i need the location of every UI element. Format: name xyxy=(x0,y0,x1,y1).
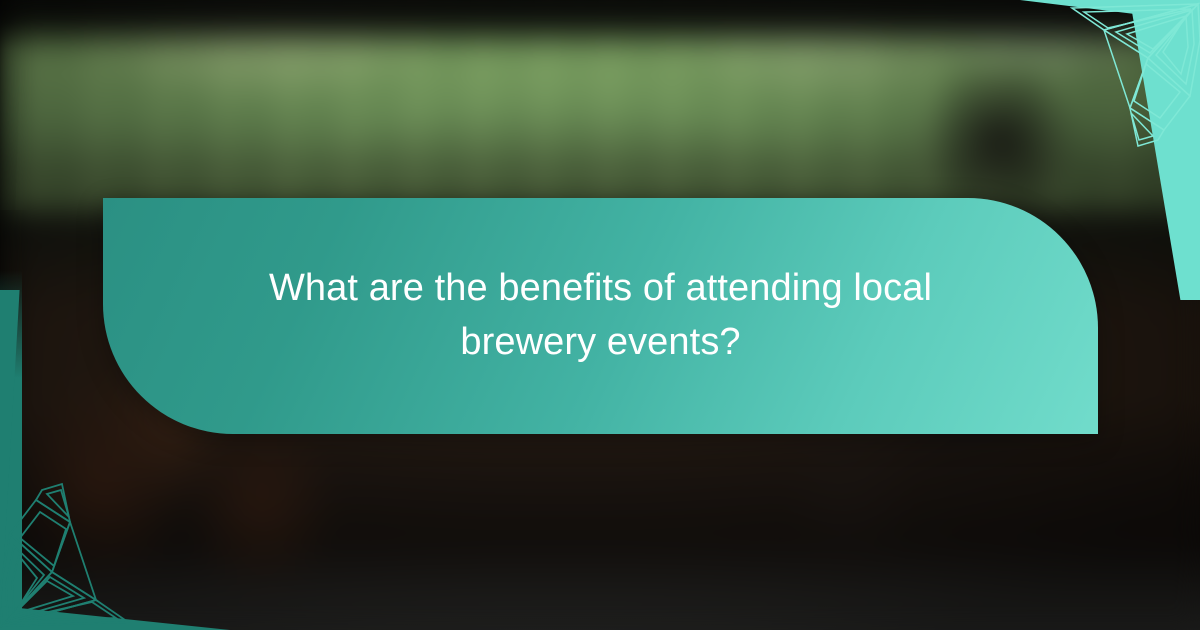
leaf-ornament-icon xyxy=(0,470,150,630)
leaf-ornament-icon xyxy=(1050,0,1200,160)
page-title: What are the benefits of attending local… xyxy=(226,262,976,370)
corner-ornament-bottom-left xyxy=(0,470,150,630)
social-card-canvas: What are the benefits of attending local… xyxy=(0,0,1200,630)
headline-card: What are the benefits of attending local… xyxy=(103,198,1098,434)
corner-ornament-top-right xyxy=(1050,0,1200,160)
